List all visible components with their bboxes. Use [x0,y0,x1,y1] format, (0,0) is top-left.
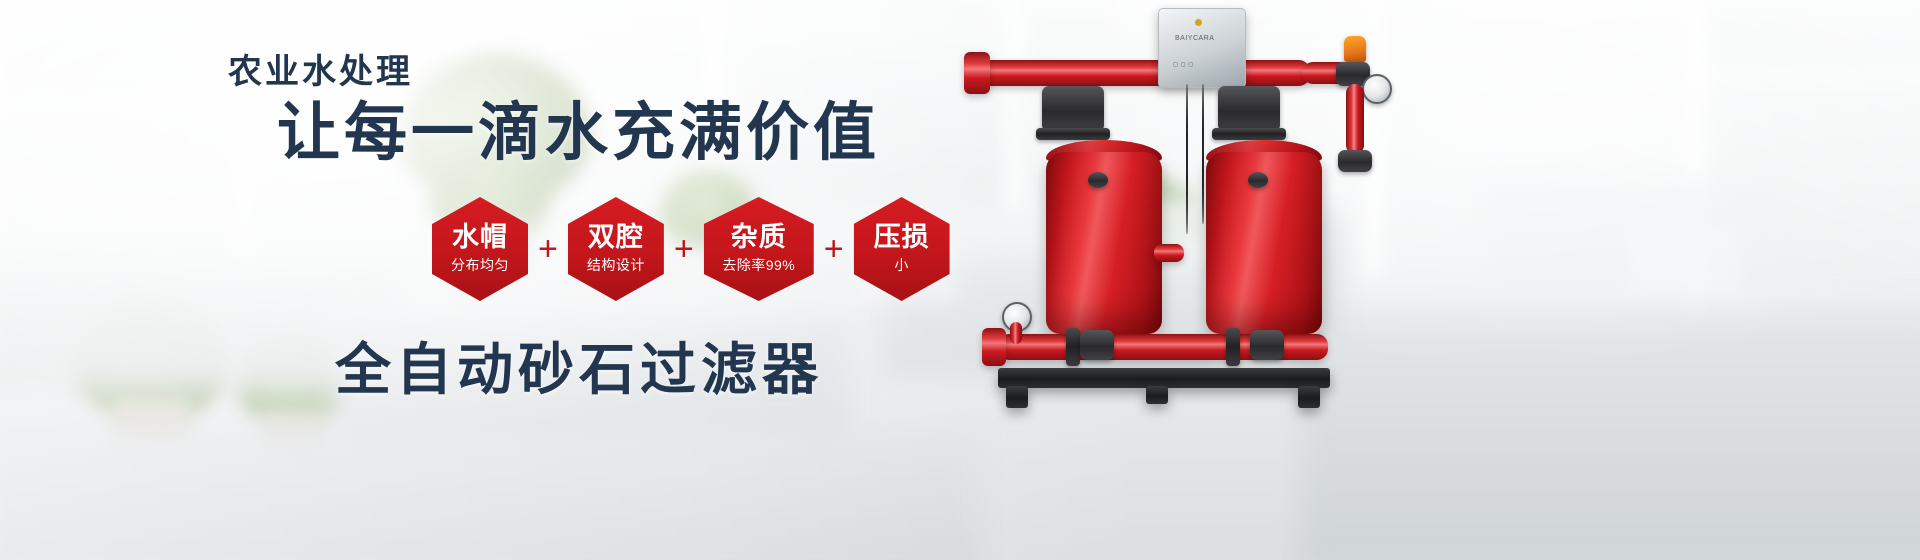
eyebrow-text: 农业水处理 [228,44,413,93]
feature-badge-subtitle: 去除率99% [722,255,795,275]
feature-badge-title: 杂质 [731,223,787,251]
product-banner: BAIYCARA ◻ ◻ ◻ [0,0,1920,560]
feature-badge-row: 水帽分布均匀+双腔结构设计+杂质去除率99%+压损小 [432,197,950,301]
feature-badge-title: 双腔 [588,223,644,251]
feature-badge-4: 压损小 [854,197,950,301]
feature-separator-plus: + [528,232,568,266]
controller-box: BAIYCARA ◻ ◻ ◻ [1158,8,1246,88]
feature-badge-title: 压损 [874,223,930,251]
feature-badge-1: 水帽分布均匀 [432,197,528,301]
feature-badge-title: 水帽 [452,223,508,251]
feature-badge-3: 杂质去除率99% [704,197,814,301]
relief-valve [1344,36,1366,62]
feature-separator-plus: + [814,232,854,266]
feature-separator-plus: + [664,232,704,266]
feature-badge-subtitle: 结构设计 [587,255,645,275]
pressure-gauge [1362,74,1392,104]
product-image-sand-filter: BAIYCARA ◻ ◻ ◻ [950,0,1450,460]
feature-badge-2: 双腔结构设计 [568,197,664,301]
main-headline: 让每一滴水充满价值 [277,100,880,166]
feature-badge-subtitle: 小 [894,255,909,275]
product-name-headline: 全自动砂石过滤器 [335,325,823,406]
feature-badge-subtitle: 分布均匀 [451,255,509,275]
